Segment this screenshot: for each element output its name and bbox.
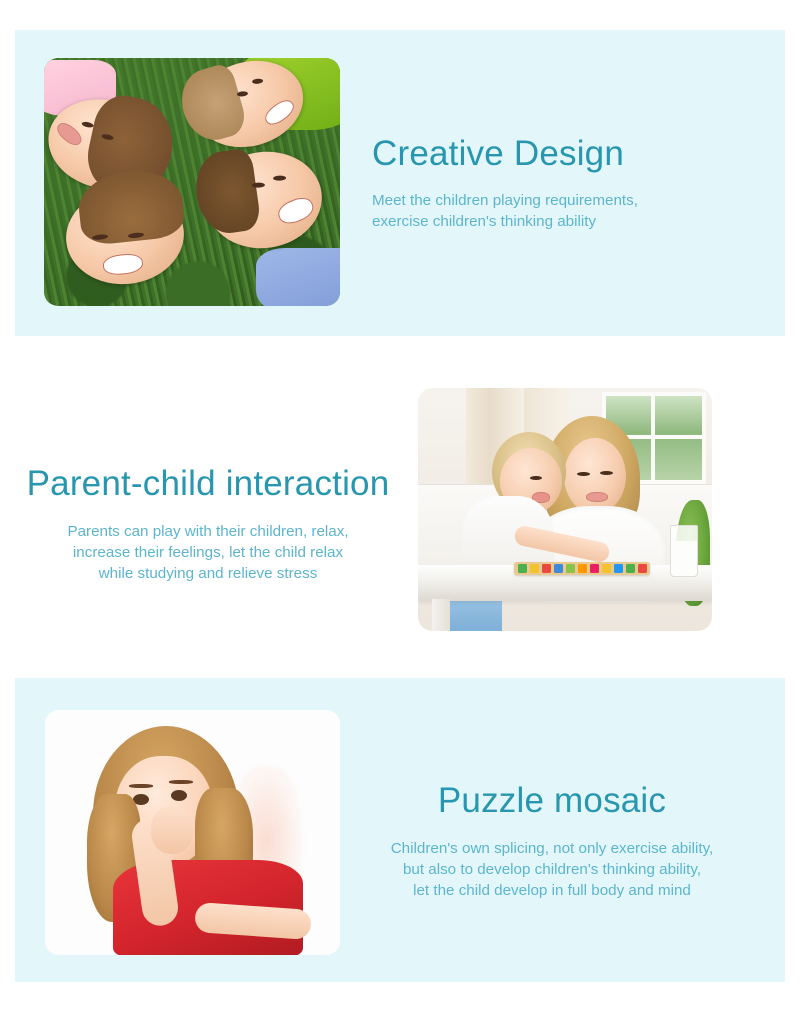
puzzle-piece: [566, 564, 575, 573]
product-feature-page: Creative Design Meet the children playin…: [0, 0, 800, 1011]
puzzle-tray: [514, 562, 650, 575]
puzzle-piece: [542, 564, 551, 573]
feature-body: Children's own splicing, not only exerci…: [352, 838, 752, 901]
child-mouth: [54, 119, 85, 148]
milk-glass: [670, 525, 698, 577]
puzzle-piece: [602, 564, 611, 573]
feature-body-line: let the child develop in full body and m…: [352, 880, 752, 901]
puzzle-piece: [614, 564, 623, 573]
table-leg: [432, 599, 450, 631]
feature-body-line: exercise children's thinking ability: [372, 211, 772, 232]
feature-body-line: Meet the children playing requirements,: [372, 190, 772, 211]
feature-heading: Parent-child interaction: [8, 466, 408, 503]
puzzle-piece: [578, 564, 587, 573]
child-eye: [81, 121, 94, 128]
feature-body-line: increase their feelings, let the child r…: [8, 542, 408, 563]
puzzle-piece: [554, 564, 563, 573]
girl-eyebrow: [169, 780, 193, 784]
puzzle-piece: [518, 564, 527, 573]
feature-body: Parents can play with their children, re…: [8, 521, 408, 584]
puzzle-piece: [626, 564, 635, 573]
child-mouth: [262, 96, 298, 129]
feature-body-line: Parents can play with their children, re…: [8, 521, 408, 542]
photo-frame: [44, 58, 340, 306]
feature-image-creative-design: [44, 58, 340, 306]
mother-head: [564, 438, 626, 514]
child-eye: [273, 175, 286, 180]
feature-text-parent-child-interaction: Parent-child interaction Parents can pla…: [8, 466, 408, 584]
mother-eye: [577, 472, 590, 476]
mother-eye: [600, 471, 613, 475]
feature-text-creative-design: Creative Design Meet the children playin…: [372, 136, 772, 232]
child-mouth: [275, 194, 317, 228]
feature-body-line: Children's own splicing, not only exerci…: [352, 838, 752, 859]
photo-frame: [45, 710, 340, 955]
puzzle-piece: [638, 564, 647, 573]
toddler-eye: [530, 476, 542, 480]
girl-eye: [171, 790, 187, 801]
feature-body-line: while studying and relieve stress: [8, 563, 408, 584]
child-eye: [237, 91, 248, 97]
feature-image-parent-child-interaction: [418, 388, 712, 631]
child-mouth: [102, 252, 144, 276]
feature-image-puzzle-mosaic: [45, 710, 340, 955]
child-eye: [252, 182, 265, 187]
child-eye: [252, 78, 263, 84]
feature-body-line: but also to develop children's thinking …: [352, 859, 752, 880]
feature-heading: Creative Design: [372, 136, 772, 173]
mother-mouth: [586, 492, 608, 502]
photo-frame: [418, 388, 712, 631]
feature-body: Meet the children playing requirements, …: [372, 190, 772, 232]
feature-text-puzzle-mosaic: Puzzle mosaic Children's own splicing, n…: [352, 783, 752, 901]
puzzle-piece: [530, 564, 539, 573]
feature-heading: Puzzle mosaic: [352, 783, 752, 820]
puzzle-piece: [590, 564, 599, 573]
child-shirt-blue: [256, 248, 340, 306]
girl-hand: [151, 806, 193, 854]
girl-eyebrow: [129, 784, 153, 788]
